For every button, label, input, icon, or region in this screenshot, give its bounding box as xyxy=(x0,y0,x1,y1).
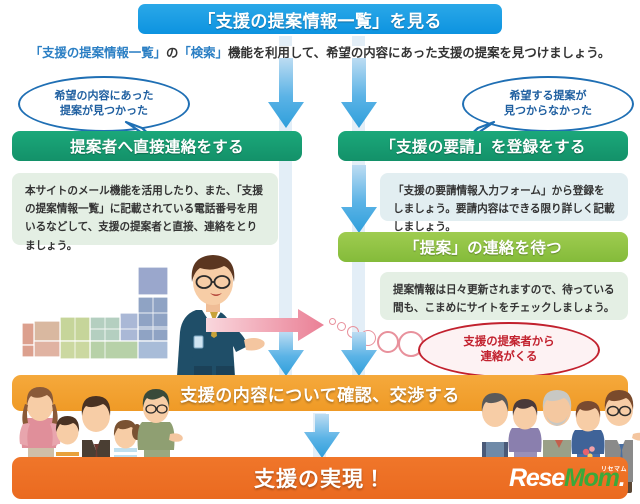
arrow-down-right-middle xyxy=(339,165,379,235)
infographic-root: 「支援の提案情報一覧」を見る 「支援の提案情報一覧」の「検索」機能を利用して、希… xyxy=(0,0,640,504)
left-branch-header: 提案者へ直接連絡をする xyxy=(12,131,302,161)
right-branch-body-panel-2: 提案情報は日々更新されますので、待っている間も、こまめにサイトをチェックしましょ… xyxy=(380,272,628,320)
subtitle-term-list: 「支援の提案情報一覧」 xyxy=(30,46,166,60)
bubble-right-line2: 見つからなかった xyxy=(504,105,592,117)
arrow-down-final xyxy=(302,414,342,460)
trail-circle-1 xyxy=(329,318,336,325)
page-title-bar: 「支援の提案情報一覧」を見る xyxy=(138,4,502,34)
left-branch-header-label: 提案者へ直接連絡をする xyxy=(70,135,244,157)
red-oval-callout: 支援の提案者から 連絡がくる xyxy=(418,322,600,378)
right-branch-header-1: 「支援の要請」を登録をする xyxy=(338,131,628,161)
page-subtitle: 「支援の提案情報一覧」の「検索」機能を利用して、希望の内容にあった支援の提案を見… xyxy=(0,43,640,61)
right-branch-header-1-label: 「支援の要請」を登録をする xyxy=(380,135,585,157)
red-oval-line2: 連絡がくる xyxy=(481,351,538,363)
realized-bar-label: 支援の実現！ xyxy=(254,463,386,493)
right-branch-body-text-1: 「支援の要請情報入力フォーム」から登録をしましょう。要請内容はできる限り詳しく記… xyxy=(393,185,615,233)
arrow-down-right-top xyxy=(339,58,379,130)
arrow-down-right-bottom xyxy=(339,332,379,378)
red-oval-line1: 支援の提案者から xyxy=(463,336,554,348)
page-title: 「支援の提案情報一覧」を見る xyxy=(198,7,442,32)
right-branch-body-text-2: 提案情報は日々更新されますので、待っている間も、こまめにサイトをチェックしましょ… xyxy=(393,284,615,314)
right-branch-body-panel-1: 「支援の要請情報入力フォーム」から登録をしましょう。要請内容はできる限り詳しく記… xyxy=(380,173,628,221)
right-branch-header-2: 「提案」の連絡を待つ xyxy=(338,232,628,262)
watermark-ruby: リセマム xyxy=(601,464,627,473)
bubble-right-line1: 希望する提案が xyxy=(510,90,587,102)
trail-circle-5 xyxy=(377,331,399,353)
arrow-down-left-bottom xyxy=(266,332,306,378)
bubble-left-line1: 希望の内容にあった xyxy=(55,90,154,102)
watermark-rese: Rese xyxy=(509,464,564,492)
left-branch-body-text: 本サイトのメール機能を活用したり、また、「支援の提案情報一覧」に記載されている電… xyxy=(25,185,263,252)
left-branch-body-panel: 本サイトのメール機能を活用したり、また、「支援の提案情報一覧」に記載されている電… xyxy=(12,173,278,245)
city-blocks-illustration xyxy=(20,265,180,370)
negotiate-bar-label: 支援の内容について確認、交渉する xyxy=(180,381,460,406)
arrow-down-left-top xyxy=(266,58,306,130)
resemom-watermark: リセマム ReseMom. xyxy=(509,466,631,499)
subtitle-joiner: の xyxy=(166,46,178,60)
subtitle-term-search: 「検索」 xyxy=(178,46,228,60)
right-branch-header-2-label: 「提案」の連絡を待つ xyxy=(404,236,562,258)
trail-circle-2 xyxy=(337,322,346,331)
bubble-left-line2: 提案が見つかった xyxy=(60,105,148,117)
